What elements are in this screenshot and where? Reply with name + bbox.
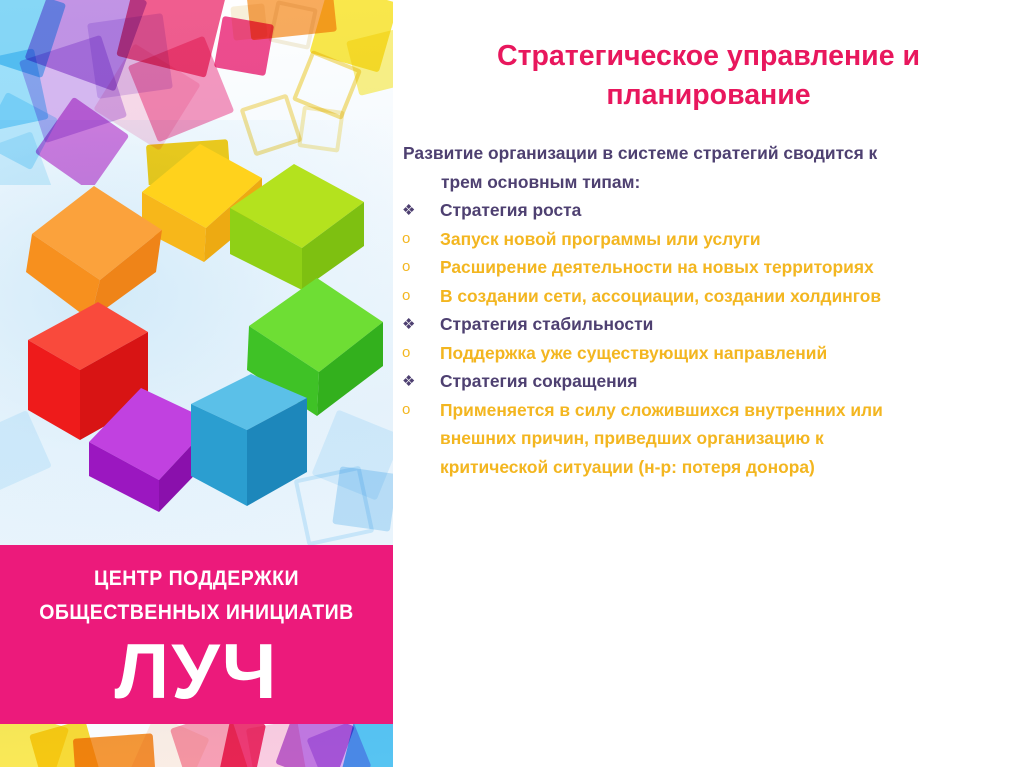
hollow-circle-bullet-icon: o — [402, 253, 432, 282]
list-item-label: Стратегия сокращения — [440, 371, 637, 391]
diamond-bullet-icon: ❖ — [402, 368, 432, 397]
hollow-circle-bullet-icon: o — [402, 396, 432, 425]
shape-cream-1 — [230, 3, 267, 40]
intro-line-1: Развитие организации в системе стратегий… — [403, 143, 877, 163]
list-item-label: Стратегия роста — [440, 200, 581, 220]
abstract-shapes-bottom — [0, 724, 393, 767]
list-item-label: В создании сети, ассоциации, создании хо… — [440, 286, 881, 306]
list-item: o Применяется в силу сложившихся внутрен… — [393, 396, 1024, 482]
logo-wordmark: ЛУЧ — [0, 631, 393, 711]
list-item: ❖ Стратегия сокращения — [393, 367, 1024, 396]
list-item-label: Применяется в силу сложившихся внутренни… — [440, 400, 883, 420]
slide-content: Стратегическое управление и планирование… — [393, 0, 1024, 767]
list-item-label: Стратегия стабильности — [440, 314, 653, 334]
intro-line-2: трем основным типам: — [403, 168, 1016, 197]
slide-root: ЦЕНТР ПОДДЕРЖКИ ОБЩЕСТВЕННЫХ ИНИЦИАТИВ Л… — [0, 0, 1024, 767]
diamond-bullet-icon: ❖ — [402, 197, 432, 226]
cover-artwork-panel: ЦЕНТР ПОДДЕРЖКИ ОБЩЕСТВЕННЫХ ИНИЦИАТИВ Л… — [0, 0, 393, 767]
list-item-label-cont-2: критической ситуации (н-р: потеря донора… — [440, 453, 1016, 482]
logo-line-2: ОБЩЕСТВЕННЫХ ИНИЦИАТИВ — [14, 601, 379, 625]
list-item-label: Расширение деятельности на новых террито… — [440, 257, 874, 277]
hollow-circle-bullet-icon: o — [402, 339, 432, 368]
diamond-bullet-icon: ❖ — [402, 311, 432, 340]
page-title-line-2: планирование — [606, 79, 810, 111]
list-item-label: Запуск новой программы или услуги — [440, 229, 761, 249]
list-item: o Поддержка уже существующих направлений — [393, 339, 1024, 368]
hollow-circle-bullet-icon: o — [402, 225, 432, 254]
list-item: o В создании сети, ассоциации, создании … — [393, 282, 1024, 311]
list-item: ❖ Стратегия стабильности — [393, 310, 1024, 339]
list-item: ❖ Стратегия роста — [393, 196, 1024, 225]
page-title: Стратегическое управление и планирование — [403, 37, 1014, 115]
list-item-label: Поддержка уже существующих направлений — [440, 343, 827, 363]
hollow-circle-bullet-icon: o — [402, 282, 432, 311]
intro-paragraph: Развитие организации в системе стратегий… — [393, 139, 1024, 196]
shape-outline-cream-1 — [268, 0, 318, 50]
logo-line-1: ЦЕНТР ПОДДЕРЖКИ — [14, 567, 379, 591]
bullet-list: Развитие организации в системе стратегий… — [393, 139, 1024, 481]
list-item-label-cont-1: внешних причин, приведших организацию к — [440, 424, 1016, 453]
logo-band: ЦЕНТР ПОДДЕРЖКИ ОБЩЕСТВЕННЫХ ИНИЦИАТИВ Л… — [0, 545, 393, 724]
shape-blue-faint-mid — [332, 466, 393, 532]
list-item: o Запуск новой программы или услуги — [393, 225, 1024, 254]
page-title-line-1: Стратегическое управление и — [497, 40, 920, 72]
list-item: o Расширение деятельности на новых терри… — [393, 253, 1024, 282]
